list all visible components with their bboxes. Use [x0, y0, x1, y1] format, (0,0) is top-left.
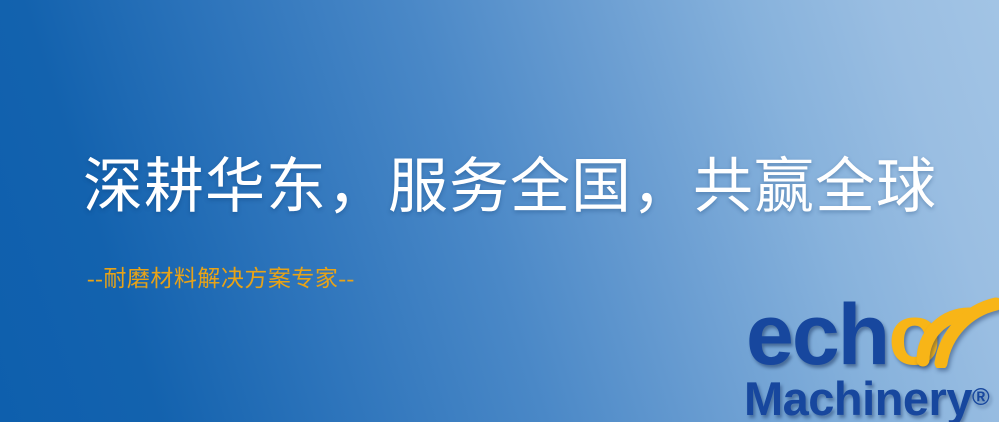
registered-trademark-icon: ®: [972, 384, 990, 411]
logo-tagline-text: Machinery: [744, 372, 972, 422]
logo-wordmark: echo: [746, 292, 939, 378]
banner-headline: 深耕华东，服务全国，共赢全球: [83, 150, 937, 224]
signal-arcs-icon: [915, 290, 999, 368]
hero-banner: 深耕华东，服务全国，共赢全球 --耐磨材料解决方案专家-- echo Machi…: [0, 0, 999, 422]
logo-word-ech: ech: [746, 287, 888, 383]
logo-tagline: Machinery®: [744, 372, 990, 422]
echo-machinery-logo[interactable]: echo Machinery®: [742, 292, 999, 422]
banner-subtitle: --耐磨材料解决方案专家--: [87, 264, 355, 294]
